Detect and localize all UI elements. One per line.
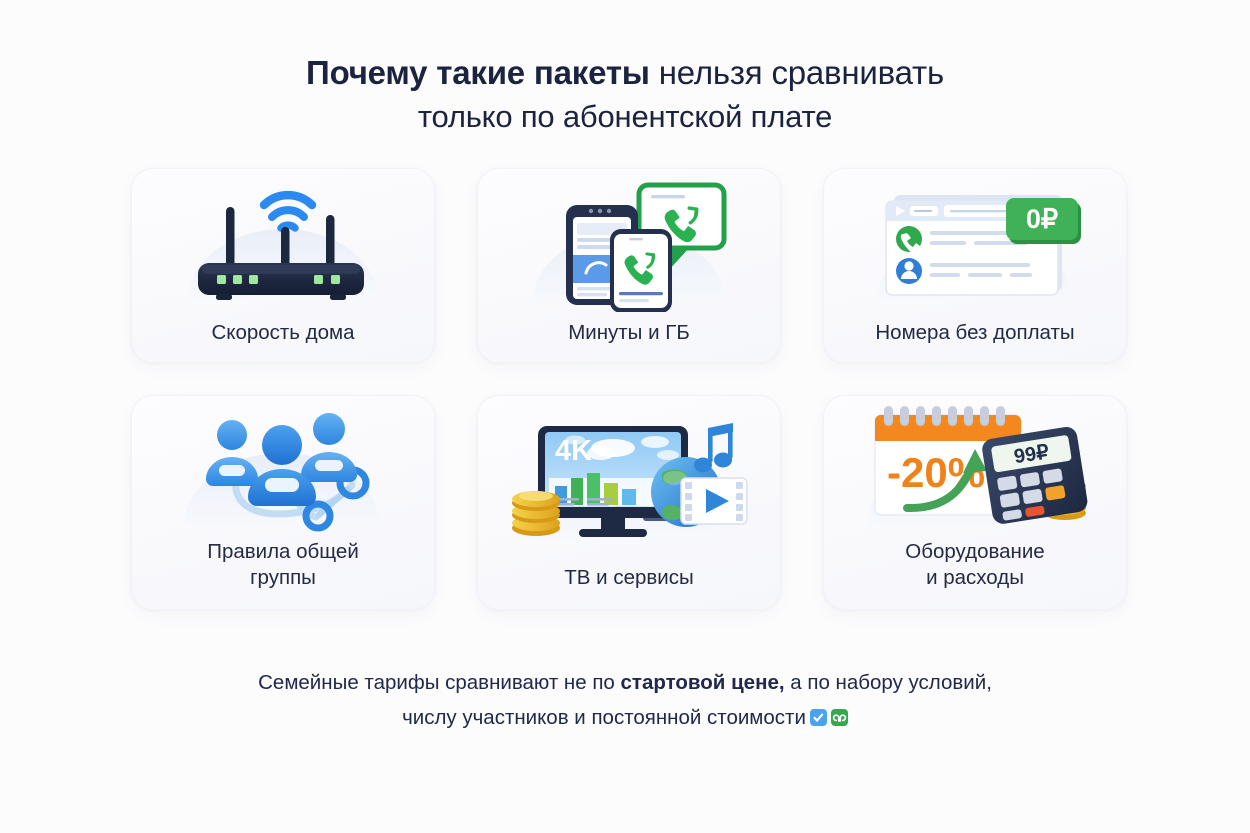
- title-rest: нельзя сравнивать: [650, 54, 944, 91]
- footer-line-2: числу участников и постоянной стоимости: [0, 700, 1250, 735]
- card-label: ТВ и сервисы: [478, 565, 780, 609]
- card-label: Скорость дома: [132, 320, 434, 362]
- card-numbers-without-surcharge[interactable]: 0₽ Номера без доплаты: [823, 168, 1127, 363]
- footer-strong: стартовой цене,: [621, 671, 785, 694]
- title-line-1: Почему такие пакеты нельзя сравнивать: [0, 50, 1250, 96]
- title-line-2: только по абонентской плате: [0, 96, 1250, 139]
- card-tv-and-services[interactable]: 4K: [477, 395, 781, 610]
- calendar-discount-calculator-icon: -20%: [824, 396, 1126, 539]
- people-group-network-icon: [132, 396, 434, 539]
- blue-check-badge-emoji: [810, 709, 827, 726]
- card-equipment-and-costs[interactable]: -20%: [823, 395, 1127, 610]
- card-label: Оборудование и расходы: [824, 539, 1126, 609]
- resolution-badge-text: 4K: [555, 435, 592, 467]
- green-infinity-badge-emoji: [831, 709, 848, 726]
- list-window-zero-price-icon: 0₽: [824, 169, 1126, 320]
- card-label: Номера без доплаты: [824, 320, 1126, 362]
- footer-pre: Семейные тарифы сравнивают не по: [258, 671, 620, 694]
- title-strong: Почему такие пакеты: [306, 54, 650, 91]
- card-speed-at-home[interactable]: Скорость дома: [131, 168, 435, 363]
- tv-globe-media-icon: 4K: [478, 396, 780, 565]
- card-shared-group-rules[interactable]: Правила общей группы: [131, 395, 435, 610]
- wifi-router-icon: [132, 169, 434, 320]
- zero-price-badge-text: 0₽: [1025, 204, 1057, 234]
- two-phones-call-bubble-icon: [478, 169, 780, 320]
- infographic-page: Почему такие пакеты нельзя сравнивать то…: [0, 0, 1250, 833]
- footer-post: а по набору условий,: [785, 671, 992, 694]
- card-label: Минуты и ГБ: [478, 320, 780, 362]
- feature-card-grid: Скорость дома: [131, 168, 1127, 610]
- card-minutes-and-gb[interactable]: Минуты и ГБ: [477, 168, 781, 363]
- footer-line2-text: числу участников и постоянной стоимости: [402, 706, 806, 729]
- card-label: Правила общей группы: [132, 539, 434, 609]
- footer-note: Семейные тарифы сравнивают не по стартов…: [0, 665, 1250, 736]
- page-title: Почему такие пакеты нельзя сравнивать то…: [0, 50, 1250, 138]
- footer-line-1: Семейные тарифы сравнивают не по стартов…: [0, 665, 1250, 700]
